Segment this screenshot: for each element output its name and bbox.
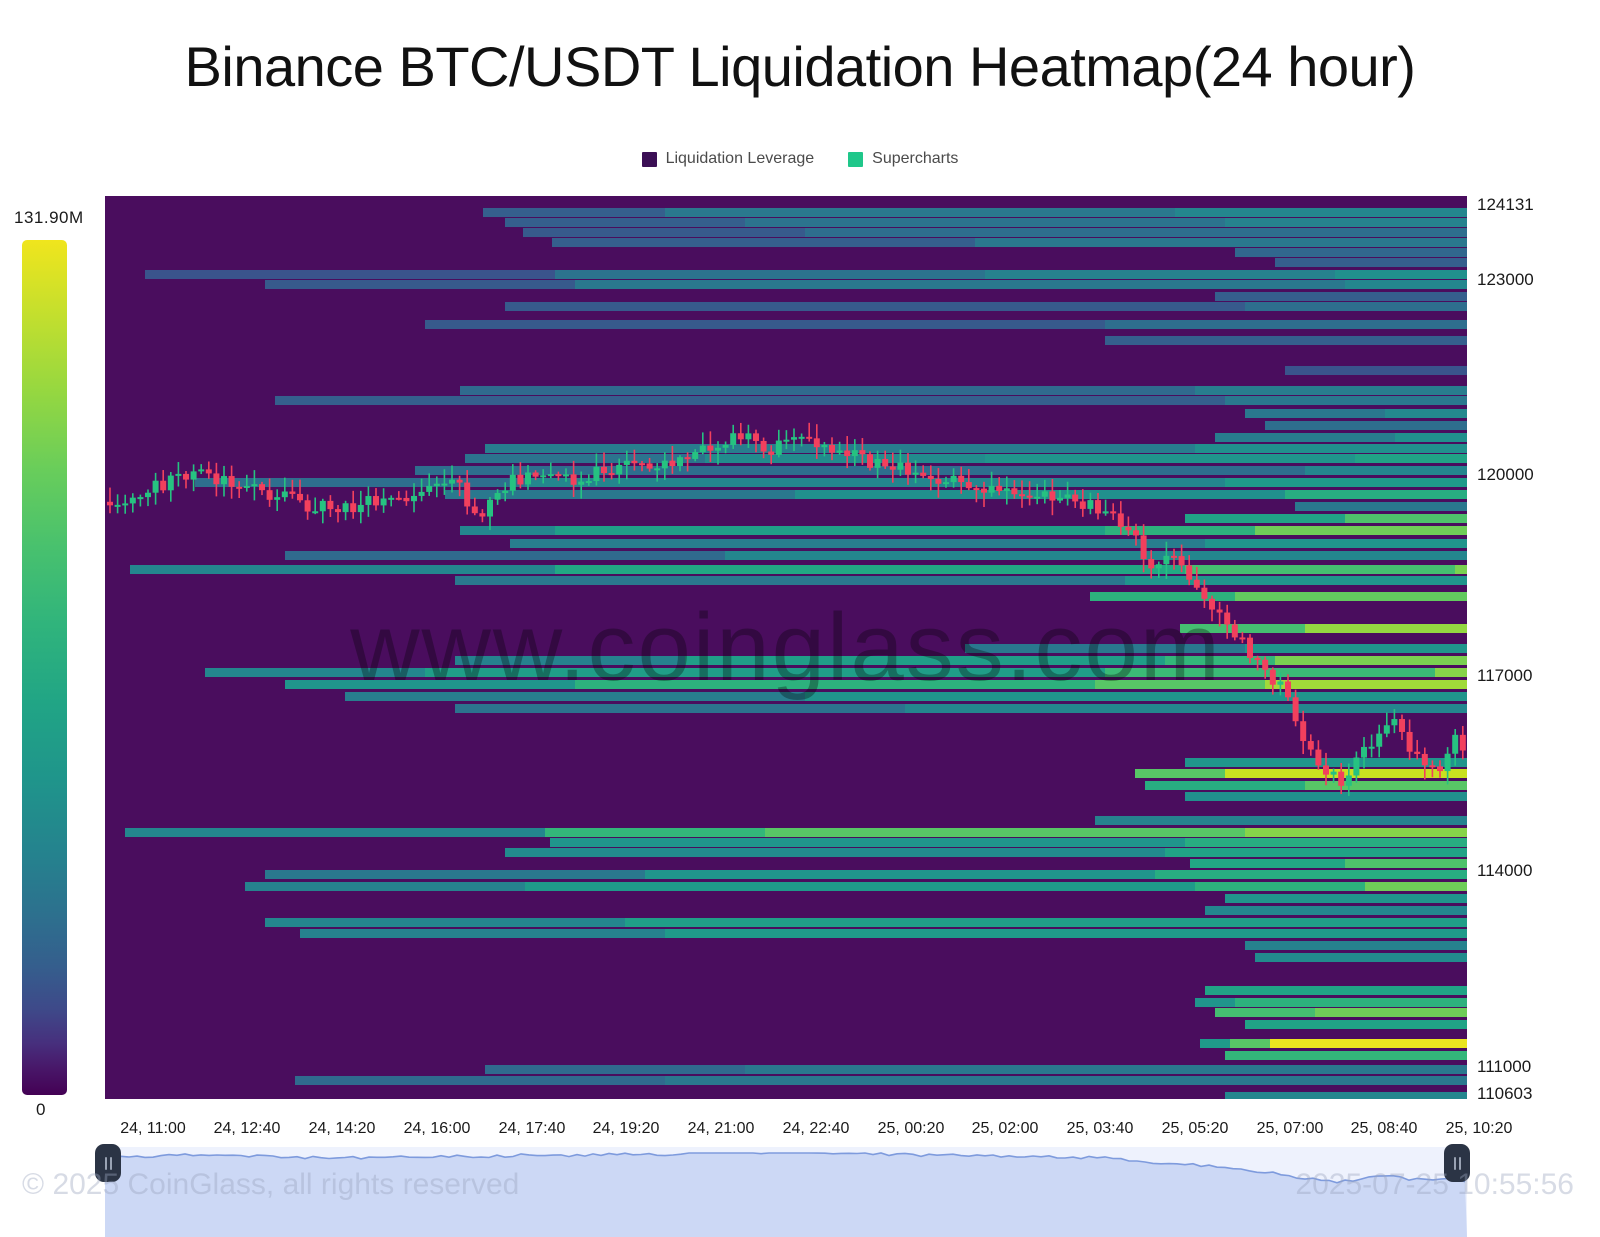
- time-axis-tick: 25, 08:40: [1351, 1120, 1418, 1138]
- candle-body: [875, 459, 881, 468]
- candle-body: [616, 465, 622, 474]
- candle-body: [981, 489, 987, 493]
- candle-body: [1049, 491, 1055, 500]
- legend-swatch-supercharts: [848, 152, 863, 167]
- candle-body: [829, 445, 835, 453]
- time-axis-tick: 24, 11:00: [120, 1120, 186, 1138]
- time-axis-tick: 25, 07:00: [1257, 1120, 1324, 1138]
- candle-body: [1247, 638, 1253, 658]
- timestamp-text: 2025-07-25 10:55:56: [1295, 1168, 1574, 1202]
- candle-body: [783, 440, 789, 442]
- candle-body: [343, 503, 349, 512]
- candle-body: [1285, 681, 1291, 697]
- candle-body: [1353, 758, 1359, 776]
- candle-body: [1422, 754, 1428, 765]
- price-axis-tick: 124131: [1477, 195, 1534, 215]
- candle-body: [175, 474, 181, 476]
- candle-body: [236, 487, 242, 489]
- candle-body: [943, 482, 949, 484]
- candle-body: [327, 501, 333, 509]
- candle-body: [700, 446, 706, 452]
- colorbar-min-label: 0: [36, 1100, 45, 1120]
- candle-body: [593, 467, 599, 481]
- price-axis: 1241311230001200001170001140001110001106…: [1477, 196, 1597, 1116]
- candle-body: [457, 480, 463, 483]
- candle-body: [198, 469, 204, 471]
- candle-body: [1445, 754, 1451, 771]
- colorbar: [22, 240, 67, 1095]
- candle-body: [548, 474, 554, 476]
- candle-body: [1065, 495, 1071, 498]
- time-axis: 24, 11:0024, 12:4024, 14:2024, 16:0024, …: [105, 1120, 1467, 1146]
- copyright-text: © 2025 CoinGlass, all rights reserved: [22, 1168, 519, 1202]
- candle-body: [1315, 750, 1321, 766]
- candle-body: [1194, 580, 1200, 588]
- price-axis-tick: 117000: [1477, 666, 1532, 686]
- time-axis-tick: 24, 12:40: [214, 1120, 281, 1138]
- candle-body: [913, 473, 919, 475]
- candle-body: [183, 474, 189, 480]
- candle-body: [677, 457, 683, 466]
- candle-body: [122, 503, 128, 505]
- candle-body: [1057, 498, 1063, 501]
- candle-body: [1255, 658, 1261, 660]
- candle-body: [1346, 775, 1352, 785]
- legend-label-supercharts: Supercharts: [872, 150, 958, 168]
- candle-body: [890, 466, 896, 469]
- candle-body: [761, 441, 767, 452]
- candle-body: [563, 474, 569, 476]
- candle-body: [730, 433, 736, 445]
- candle-body: [609, 473, 615, 475]
- candle-body: [153, 481, 159, 493]
- time-axis-tick: 24, 21:00: [688, 1120, 755, 1138]
- candle-body: [692, 452, 698, 459]
- candle-body: [487, 500, 493, 517]
- candle-body: [517, 475, 523, 485]
- candle-body: [791, 437, 797, 440]
- candle-body: [669, 461, 675, 466]
- candle-body: [1080, 501, 1086, 508]
- candle-body: [1179, 556, 1185, 565]
- candle-body: [259, 484, 265, 490]
- candle-body: [1034, 497, 1040, 499]
- candle-body: [289, 491, 295, 493]
- candle-body: [624, 461, 630, 465]
- candle-body: [533, 472, 539, 476]
- candle-body: [1414, 752, 1420, 754]
- candle-body: [1361, 747, 1367, 758]
- candle-body: [1224, 613, 1230, 625]
- candle-body: [1011, 488, 1017, 494]
- candle-body: [434, 484, 440, 486]
- candle-body: [1460, 735, 1466, 751]
- candle-body: [365, 496, 371, 505]
- candle-body: [882, 459, 888, 466]
- candle-body: [441, 484, 447, 486]
- candle-body: [403, 498, 409, 501]
- candle-body: [1331, 772, 1337, 775]
- candle-body: [267, 490, 273, 500]
- legend-item-supercharts[interactable]: Supercharts: [848, 150, 958, 168]
- candle-body: [973, 488, 979, 490]
- time-axis-tick: 24, 16:00: [404, 1120, 471, 1138]
- candle-body: [814, 438, 820, 447]
- candle-body: [571, 474, 577, 484]
- candle-body: [935, 479, 941, 484]
- candle-body: [1239, 637, 1245, 639]
- candle-body: [852, 450, 858, 456]
- candle-body: [776, 441, 782, 455]
- colorbar-gradient: [22, 240, 67, 1095]
- price-axis-tick: 114000: [1477, 861, 1532, 881]
- time-axis-tick: 24, 22:40: [783, 1120, 850, 1138]
- candle-body: [495, 493, 501, 500]
- candle-body: [821, 445, 827, 447]
- candle-body: [1110, 511, 1116, 513]
- candle-body: [1429, 765, 1435, 767]
- candle-body: [768, 452, 774, 455]
- candle-body: [130, 498, 136, 504]
- candle-body: [160, 481, 166, 491]
- candle-body: [282, 491, 288, 497]
- candle-body: [206, 469, 212, 473]
- time-axis-tick: 24, 19:20: [593, 1120, 660, 1138]
- candlestick-series: [105, 196, 1467, 1099]
- candle-body: [989, 486, 995, 493]
- candle-body: [388, 498, 394, 500]
- candle-body: [1141, 535, 1147, 559]
- candle-body: [1118, 513, 1124, 526]
- candle-body: [1232, 624, 1238, 637]
- price-axis-tick: 110603: [1477, 1084, 1532, 1104]
- time-axis-tick: 25, 03:40: [1067, 1120, 1134, 1138]
- candle-body: [1452, 735, 1458, 754]
- candle-body: [510, 475, 516, 491]
- candle-body: [859, 450, 865, 454]
- candle-body: [1201, 588, 1207, 599]
- candle-body: [837, 450, 843, 452]
- candle-body: [738, 433, 744, 439]
- price-axis-tick: 123000: [1477, 270, 1534, 290]
- candle-body: [1217, 610, 1223, 613]
- candle-body: [229, 476, 235, 487]
- candle-body: [1209, 599, 1215, 610]
- candle-body: [601, 467, 607, 473]
- candle-body: [107, 502, 113, 506]
- price-axis-tick: 111000: [1477, 1057, 1531, 1077]
- candle-body: [396, 498, 402, 500]
- candle-body: [251, 484, 257, 486]
- candle-body: [715, 448, 721, 451]
- candle-body: [685, 457, 691, 459]
- candle-body: [723, 445, 729, 448]
- candle-body: [1391, 719, 1397, 725]
- legend-swatch-liquidation-leverage: [642, 152, 657, 167]
- candle-body: [1042, 491, 1048, 496]
- candle-body: [213, 473, 219, 484]
- candle-body: [244, 486, 250, 488]
- candle-body: [920, 473, 926, 476]
- candle-body: [647, 463, 653, 468]
- candle-body: [631, 461, 637, 463]
- candle-body: [951, 476, 957, 482]
- time-axis-tick: 25, 02:00: [972, 1120, 1039, 1138]
- candle-body: [1369, 747, 1375, 749]
- candle-body: [966, 482, 972, 488]
- price-axis-tick: 120000: [1477, 465, 1534, 485]
- time-axis-tick: 25, 10:20: [1446, 1120, 1513, 1138]
- candle-body: [586, 481, 592, 483]
- candle-body: [1027, 496, 1033, 498]
- candle-body: [662, 461, 668, 469]
- candle-body: [867, 454, 873, 468]
- candle-body: [320, 501, 326, 511]
- candle-body: [1186, 565, 1192, 579]
- candle-body: [905, 463, 911, 475]
- candle-body: [274, 497, 280, 500]
- candle-body: [305, 500, 311, 511]
- candle-body: [1095, 500, 1101, 513]
- candle-body: [1087, 500, 1093, 509]
- candle-body: [297, 494, 303, 500]
- candle-body: [928, 476, 934, 479]
- candle-body: [381, 498, 387, 505]
- candle-body: [358, 505, 364, 512]
- candle-body: [540, 475, 546, 477]
- heatmap-plot[interactable]: www.coinglass.com: [105, 196, 1467, 1099]
- candle-body: [1300, 721, 1306, 741]
- candle-body: [707, 446, 713, 451]
- time-axis-tick: 24, 14:20: [309, 1120, 376, 1138]
- chart-legend: Liquidation Leverage Supercharts: [0, 150, 1600, 168]
- candle-body: [1399, 719, 1405, 732]
- candle-body: [753, 433, 759, 441]
- candle-body: [1156, 564, 1162, 568]
- candle-body: [137, 497, 143, 499]
- candle-body: [1323, 765, 1329, 774]
- candle-body: [1338, 772, 1344, 786]
- candle-body: [115, 505, 121, 507]
- candle-body: [996, 486, 1002, 491]
- page-title: Binance BTC/USDT Liquidation Heatmap(24 …: [0, 34, 1600, 99]
- candle-body: [373, 496, 379, 505]
- candle-body: [1148, 559, 1154, 568]
- candle-body: [799, 437, 805, 439]
- candle-body: [479, 513, 485, 516]
- candle-body: [639, 463, 645, 465]
- candle-body: [502, 491, 508, 493]
- candle-body: [426, 486, 432, 492]
- candle-body: [145, 493, 151, 497]
- candle-body: [191, 471, 197, 479]
- candle-body: [897, 463, 903, 470]
- candle-body: [1072, 495, 1078, 502]
- candle-body: [1437, 766, 1443, 771]
- candle-body: [1019, 494, 1025, 496]
- candle-body: [411, 496, 417, 501]
- candle-body: [1270, 670, 1276, 685]
- candle-body: [654, 468, 660, 470]
- candle-body: [1293, 697, 1299, 721]
- candle-body: [1262, 660, 1268, 670]
- candle-body: [1133, 530, 1139, 535]
- candle-body: [745, 433, 751, 439]
- candle-body: [525, 472, 531, 484]
- candle-body: [419, 492, 425, 496]
- candle-body: [464, 483, 470, 507]
- candle-body: [1004, 488, 1010, 491]
- time-axis-tick: 24, 17:40: [499, 1120, 566, 1138]
- candle-body: [1103, 511, 1109, 513]
- legend-item-liquidation-leverage[interactable]: Liquidation Leverage: [642, 150, 815, 168]
- candle-body: [312, 511, 318, 513]
- candle-body: [1308, 741, 1314, 750]
- candle-body: [806, 437, 812, 439]
- candle-body: [1376, 734, 1382, 747]
- candle-body: [1384, 725, 1390, 733]
- legend-label-liquidation-leverage: Liquidation Leverage: [666, 150, 815, 168]
- candle-body: [168, 476, 174, 491]
- candle-body: [472, 506, 478, 513]
- candle-body: [555, 474, 561, 476]
- candle-body: [221, 476, 227, 484]
- candle-body: [1277, 681, 1283, 684]
- candle-body: [449, 480, 455, 484]
- colorbar-max-label: 131.90M: [14, 208, 84, 228]
- candle-body: [958, 476, 964, 482]
- candle-body: [1163, 556, 1169, 564]
- candle-body: [844, 450, 850, 456]
- time-axis-tick: 25, 00:20: [878, 1120, 945, 1138]
- candle-body: [1171, 556, 1177, 558]
- candle-body: [350, 503, 356, 512]
- time-axis-tick: 25, 05:20: [1162, 1120, 1229, 1138]
- candle-body: [578, 482, 584, 485]
- candle-body: [1407, 732, 1413, 752]
- candle-body: [1125, 527, 1131, 530]
- candle-body: [335, 509, 341, 512]
